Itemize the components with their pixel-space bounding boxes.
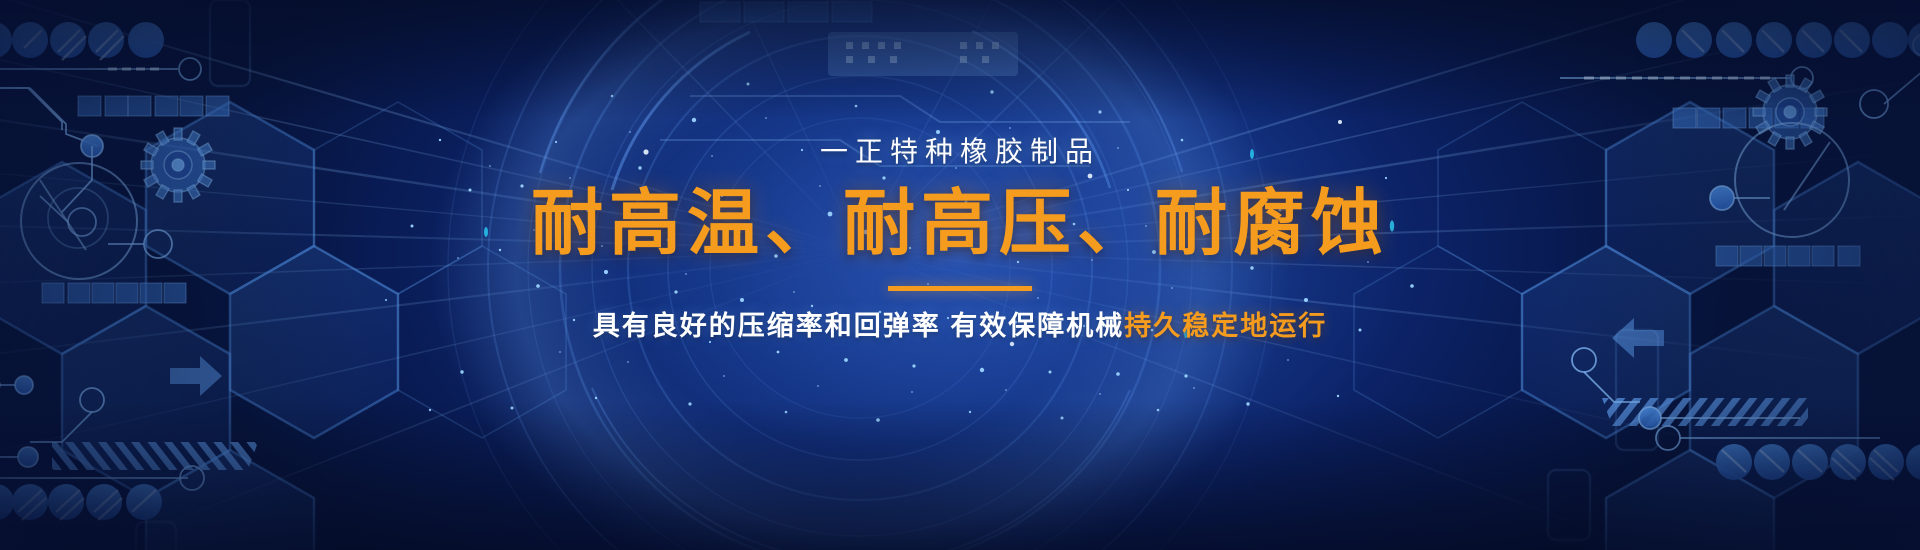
banner-subtitle-orange: 持久稳定地运行 <box>1124 311 1327 341</box>
banner-eyebrow: 一正特种橡胶制品 <box>820 138 1100 166</box>
banner-headline: 耐高温、耐高压、耐腐蚀 <box>531 188 1389 260</box>
banner-content: 一正特种橡胶制品 耐高温、耐高压、耐腐蚀 具有良好的压缩率和回弹率 有效保障机械… <box>0 0 1920 550</box>
banner-subtitle: 具有良好的压缩率和回弹率 有效保障机械持久稳定地运行 <box>593 313 1328 340</box>
hero-banner: 一正特种橡胶制品 耐高温、耐高压、耐腐蚀 具有良好的压缩率和回弹率 有效保障机械… <box>0 0 1920 550</box>
banner-subtitle-white: 具有良好的压缩率和回弹率 有效保障机械 <box>593 311 1125 341</box>
banner-divider-rule <box>888 286 1032 291</box>
